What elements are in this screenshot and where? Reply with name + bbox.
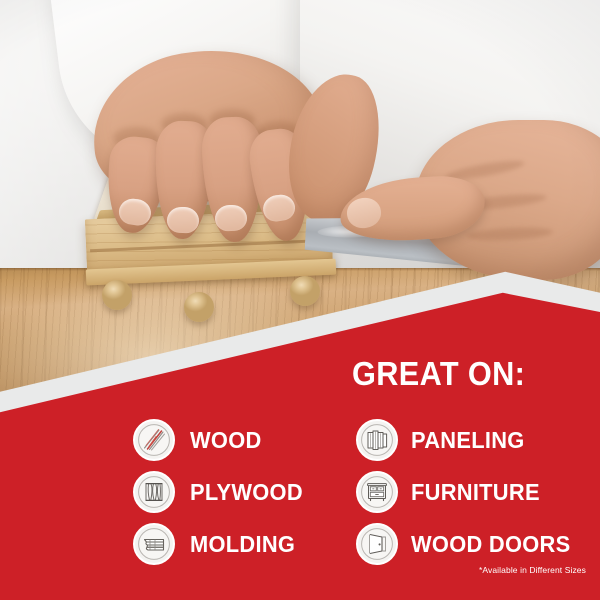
list-item-molding[interactable]: MOLDING	[133, 519, 309, 569]
page-title: GREAT ON:	[352, 357, 525, 390]
list-item-label: MOLDING	[190, 531, 295, 558]
wood-grain-icon	[133, 419, 175, 461]
list-item-furniture[interactable]: FURNITURE	[356, 467, 579, 517]
surface-column-right: PANELING	[356, 415, 579, 571]
promo-banner: GREAT ON:	[0, 0, 600, 600]
wall-paneling-icon	[356, 419, 398, 461]
plywood-icon	[133, 471, 175, 513]
list-item-wood[interactable]: WOOD	[133, 415, 309, 465]
list-item-label: PLYWOOD	[190, 479, 303, 506]
list-item-label: WOOD	[190, 427, 262, 454]
surface-column-left: WOOD	[133, 415, 309, 571]
list-item-label: FURNITURE	[411, 479, 540, 506]
list-item-wood-doors[interactable]: WOOD DOORS	[356, 519, 579, 569]
list-item-plywood[interactable]: PLYWOOD	[133, 467, 309, 517]
list-item-paneling[interactable]: PANELING	[356, 415, 579, 465]
availability-footnote: *Available in Different Sizes	[479, 565, 586, 575]
dresser-icon	[356, 471, 398, 513]
open-door-icon	[356, 523, 398, 565]
list-item-label: WOOD DOORS	[411, 531, 570, 558]
banner-content: GREAT ON:	[0, 0, 600, 600]
molding-profile-icon	[133, 523, 175, 565]
list-item-label: PANELING	[411, 427, 525, 454]
